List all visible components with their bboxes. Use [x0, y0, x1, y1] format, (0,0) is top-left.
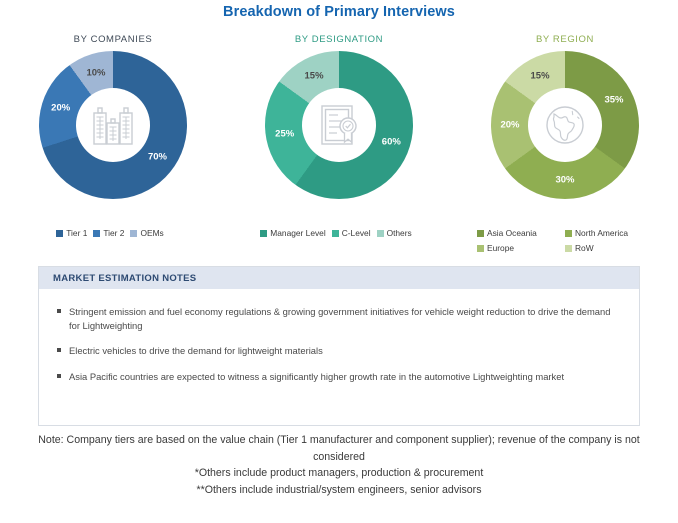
slice-label: 70% [148, 152, 167, 163]
legend-swatch [93, 230, 100, 237]
donut-center-companies [76, 88, 150, 162]
bullet-icon [57, 374, 61, 378]
footer-line-3: **Others include industrial/system engin… [14, 482, 664, 499]
donut-chart-companies: 70%20%10% [39, 51, 187, 199]
donut-center-region [528, 88, 602, 162]
legend-label: Others [387, 228, 412, 238]
legend-swatch [332, 230, 339, 237]
slice-label: 30% [555, 175, 574, 186]
note-item: Electric vehicles to drive the demand fo… [57, 344, 621, 358]
slice-label: 10% [86, 67, 105, 78]
legend-swatch [477, 230, 484, 237]
slice-label: 15% [531, 70, 550, 81]
legend-swatch [565, 230, 572, 237]
legend-companies: Tier 1Tier 2OEMs [0, 228, 226, 262]
chart-title-region: BY REGION [536, 34, 594, 45]
certificate-document-icon [316, 102, 362, 148]
legend-label: C-Level [342, 228, 371, 238]
note-text: Electric vehicles to drive the demand fo… [69, 344, 323, 358]
bullet-icon [57, 348, 61, 352]
notes-header: MARKET ESTIMATION NOTES [39, 267, 639, 289]
legend-label: Manager Level [270, 228, 325, 238]
chart-by-region: BY REGION 35%30%20%15% [452, 34, 678, 224]
page-title: Breakdown of Primary Interviews [0, 4, 678, 20]
legend-swatch [130, 230, 137, 237]
note-text: Asia Pacific countries are expected to w… [69, 370, 564, 384]
bullet-icon [57, 309, 61, 313]
chart-title-designation: BY DESIGNATION [295, 34, 383, 45]
legend-item[interactable]: Tier 2 [93, 228, 124, 238]
footer-line-1: Note: Company tiers are based on the val… [14, 432, 664, 465]
note-text: Stringent emission and fuel economy regu… [69, 305, 621, 332]
slice-label: 25% [275, 128, 294, 139]
slice-label: 60% [382, 136, 401, 147]
legend-item[interactable]: Asia Oceania [477, 228, 565, 238]
market-estimation-notes-box: MARKET ESTIMATION NOTES Stringent emissi… [38, 266, 640, 426]
legend-item[interactable]: C-Level [332, 228, 371, 238]
legend-label: RoW [575, 243, 594, 253]
legend-item[interactable]: Europe [477, 243, 565, 253]
legend-label: Tier 2 [103, 228, 124, 238]
note-item: Asia Pacific countries are expected to w… [57, 370, 621, 384]
slice-label: 20% [51, 103, 70, 114]
legend-item[interactable]: Tier 1 [56, 228, 87, 238]
donut-center-designation [302, 88, 376, 162]
footer-line-2: *Others include product managers, produc… [14, 465, 664, 482]
chart-by-designation: BY DESIGNATION [226, 34, 452, 224]
legend-item[interactable]: North America [565, 228, 653, 238]
chart-title-companies: BY COMPANIES [74, 34, 153, 45]
legend-item[interactable]: Others [377, 228, 412, 238]
legends-row: Tier 1Tier 2OEMs Manager LevelC-LevelOth… [0, 228, 678, 262]
notes-list: Stringent emission and fuel economy regu… [39, 289, 639, 383]
legend-item[interactable]: OEMs [130, 228, 163, 238]
legend-swatch [56, 230, 63, 237]
globe-icon [541, 101, 589, 149]
slice-label: 20% [500, 120, 519, 131]
legend-label: OEMs [140, 228, 163, 238]
legend-label: Tier 1 [66, 228, 87, 238]
buildings-icon [90, 103, 136, 147]
footer-notes: Note: Company tiers are based on the val… [0, 432, 678, 498]
slice-label: 35% [604, 95, 623, 106]
donut-chart-region: 35%30%20%15% [491, 51, 639, 199]
legend-swatch [377, 230, 384, 237]
legend-label: Europe [487, 243, 514, 253]
legend-swatch [565, 245, 572, 252]
legend-region: Asia OceaniaNorth AmericaEuropeRoW [452, 228, 678, 262]
chart-by-companies: BY COMPANIES [0, 34, 226, 224]
legend-label: North America [575, 228, 628, 238]
charts-row: BY COMPANIES [0, 34, 678, 224]
legend-swatch [477, 245, 484, 252]
legend-item[interactable]: RoW [565, 243, 653, 253]
slice-label: 15% [305, 70, 324, 81]
donut-chart-designation: 60%25%15% [265, 51, 413, 199]
legend-item[interactable]: Manager Level [260, 228, 325, 238]
legend-swatch [260, 230, 267, 237]
legend-designation: Manager LevelC-LevelOthers [226, 228, 452, 262]
note-item: Stringent emission and fuel economy regu… [57, 305, 621, 332]
legend-label: Asia Oceania [487, 228, 537, 238]
